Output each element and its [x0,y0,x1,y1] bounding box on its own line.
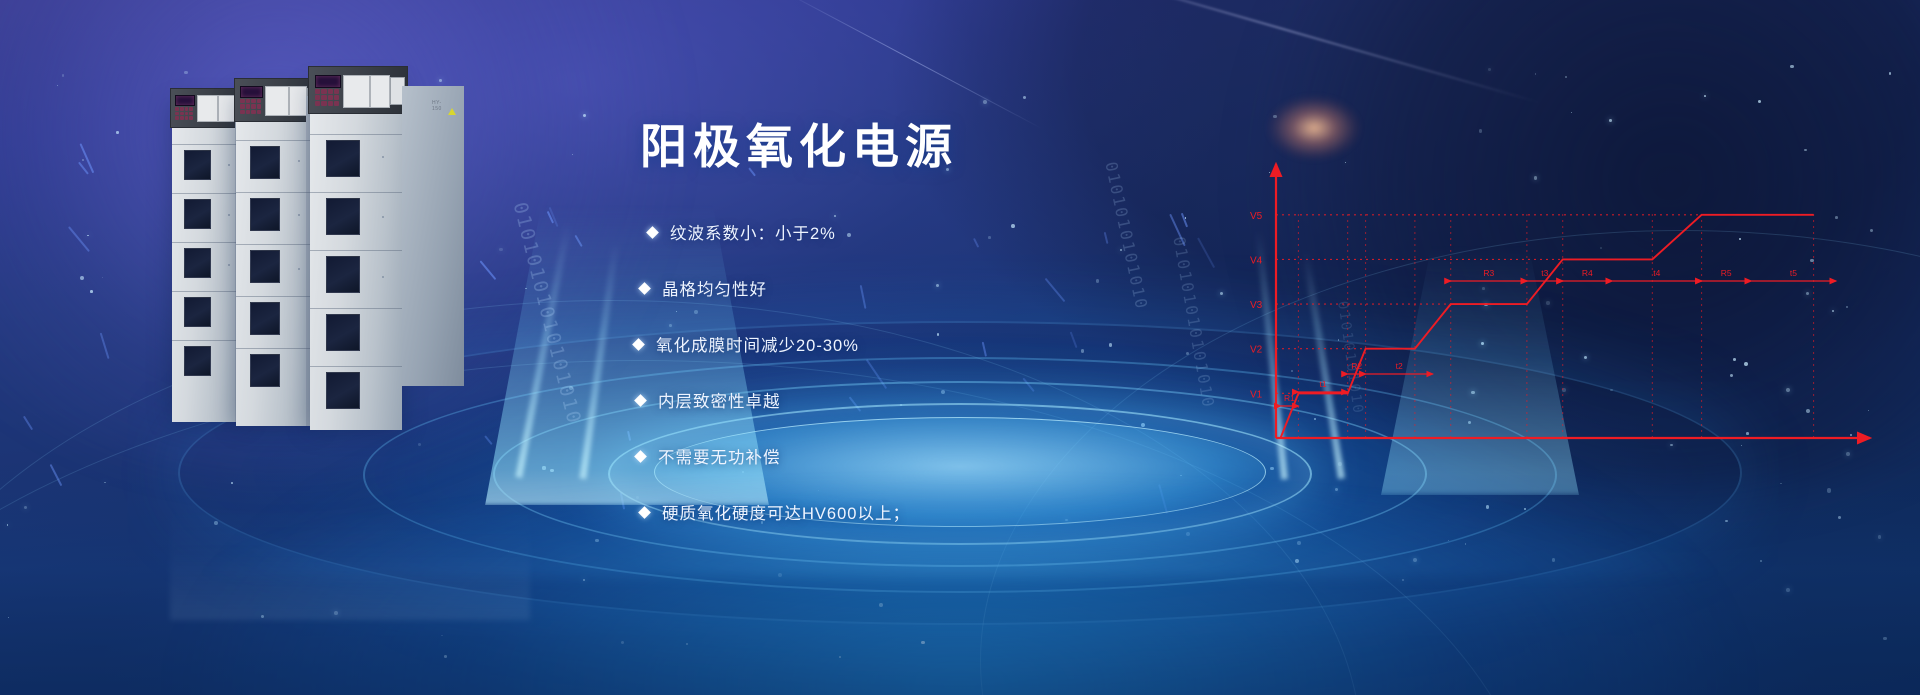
particle-dot [1790,65,1793,68]
chart-segment-label: R3 [1483,268,1494,278]
particle-streak [99,332,109,359]
cabinet-brand-text: HY-150 [432,100,442,112]
diamond-bullet-icon [638,506,651,519]
chart-segment-label: t2 [1396,361,1403,371]
cabinet-right-vent-5 [326,372,360,409]
diamond-bullet-icon [638,282,651,295]
light-streak-decoration-2 [777,0,1042,129]
chart-segment-label: t5 [1790,268,1797,278]
particle-dot [583,114,586,117]
cabinet-right-vent-3 [326,256,360,293]
cabinet-left-vent-3 [184,248,211,278]
cabinet-right-side-panel [402,86,464,386]
particle-dot [1758,100,1761,103]
particle-dot [80,276,84,280]
chart-y-tick-label: V1 [1250,389,1263,400]
cabinet-middle-vent-2 [250,198,280,231]
cabinet-right-keypad [315,89,339,106]
diamond-bullet-icon [634,450,647,463]
light-streak-decoration [1040,0,1540,104]
cabinet-middle-vent-5 [250,354,280,387]
list-item: 晶格均匀性好 [640,276,1200,300]
cabinet-middle-keypad [240,99,261,114]
list-item-label: 不需要无功补偿 [658,444,781,468]
chart-y-tick-label: V2 [1250,345,1263,356]
particle-dot [1479,129,1482,132]
cabinet-right-vent-1 [326,140,360,177]
voltage-profile-svg: V1V2V3V4V5R3t3R4t4R5t5R1t1R2t2 [1240,150,1880,480]
list-item: 氧化成膜时间减少20-30% [634,332,1200,356]
particle-dot [102,277,103,278]
cabinet-right-display [315,75,341,88]
particle-streak [78,162,89,175]
particle-dot [184,71,187,74]
particle-dot [983,100,987,104]
cabinet-middle-vent-3 [250,250,280,283]
chart-y-tick-label: V4 [1250,255,1263,266]
particle-dot [1889,72,1892,75]
diamond-bullet-icon [646,226,659,239]
warning-triangle-icon [448,108,456,115]
cabinet-left-vent-5 [184,346,211,376]
list-item: 硬质氧化硬度可达HV600以上； [640,500,1200,524]
particle-dot [1571,112,1572,113]
particle-dot [90,290,93,293]
particle-dot [1609,119,1612,122]
cabinet-middle-display [240,86,263,98]
list-item: 内层致密性卓越 [636,388,1200,412]
chart-segment-label: t4 [1653,268,1660,278]
feature-list: 纹波系数小：小于2% 晶格均匀性好 氧化成膜时间减少20-30% 内层致密性卓越… [640,220,1200,524]
list-item: 纹波系数小：小于2% [648,220,1200,244]
particle-dot [62,74,65,77]
cabinet-left [172,104,244,422]
cabinet-middle [236,96,316,426]
chart-segment-label: R4 [1582,268,1593,278]
particle-dot [116,131,118,133]
cabinet-middle-label-a [265,86,289,116]
chart-segment-label: R1 [1284,393,1295,403]
cabinet-middle-vent-4 [250,302,280,335]
particle-dot [572,154,573,155]
diamond-bullet-icon [632,338,645,351]
list-item-label: 内层致密性卓越 [658,388,781,412]
chart-voltage-line [1276,215,1814,438]
cabinet-left-vent-1 [184,150,211,180]
cabinet-right-control-head [308,66,408,114]
particle-dot [1565,76,1567,78]
list-item-label: 晶格均匀性好 [662,276,767,300]
particle-dot [1023,96,1026,99]
cabinet-middle-label-b [289,86,307,116]
cabinet-reflection [170,500,530,620]
list-item-label: 纹波系数小：小于2% [670,220,836,244]
particle-dot [1488,68,1491,71]
list-item: 不需要无功补偿 [636,444,1200,468]
cabinet-left-vent-4 [184,297,211,327]
list-item-label: 氧化成膜时间减少20-30% [656,332,859,356]
equipment-cabinets: HY-150 [170,82,530,502]
cabinet-right: HY-150 [310,86,402,430]
cabinet-right-label-a [343,75,370,108]
hero-banner: 01010101010101010 0101010101010 01010101… [0,0,1920,695]
chart-segment-label: t1 [1319,379,1326,389]
cabinet-left-label-b [218,95,235,122]
particle-dot [1220,292,1223,295]
particle-dot [1273,115,1276,118]
cabinet-right-vent-4 [326,314,360,351]
particle-dot [57,85,58,86]
cabinet-left-keypad [175,107,193,120]
particle-streak [68,226,90,252]
particle-dot [82,159,84,161]
chart-segment-label: R2 [1351,361,1362,371]
cabinet-left-label-a [197,95,218,122]
page-title: 阳极氧化电源 [640,120,1200,176]
chart-segment-label: t3 [1541,268,1548,278]
list-item-label: 硬质氧化硬度可达HV600以上； [662,500,910,524]
diamond-bullet-icon [634,394,647,407]
chart-y-tick-label: V5 [1250,211,1263,222]
banner-content: 阳极氧化电源 纹波系数小：小于2% 晶格均匀性好 氧化成膜时间减少20-30% … [640,120,1200,524]
chart-y-tick-label: V3 [1250,300,1263,311]
particle-dot [1535,73,1536,74]
cabinet-left-display [175,95,195,106]
cabinet-left-vent-2 [184,199,211,229]
cabinet-right-vent-2 [326,198,360,235]
particle-dot [87,235,89,237]
cabinet-middle-vent-1 [250,146,280,179]
cabinet-right-label-b [370,75,390,108]
voltage-profile-chart: V1V2V3V4V5R3t3R4t4R5t5R1t1R2t2 [1240,150,1880,480]
particle-dot [1704,95,1706,97]
chart-segment-label: R5 [1721,268,1732,278]
